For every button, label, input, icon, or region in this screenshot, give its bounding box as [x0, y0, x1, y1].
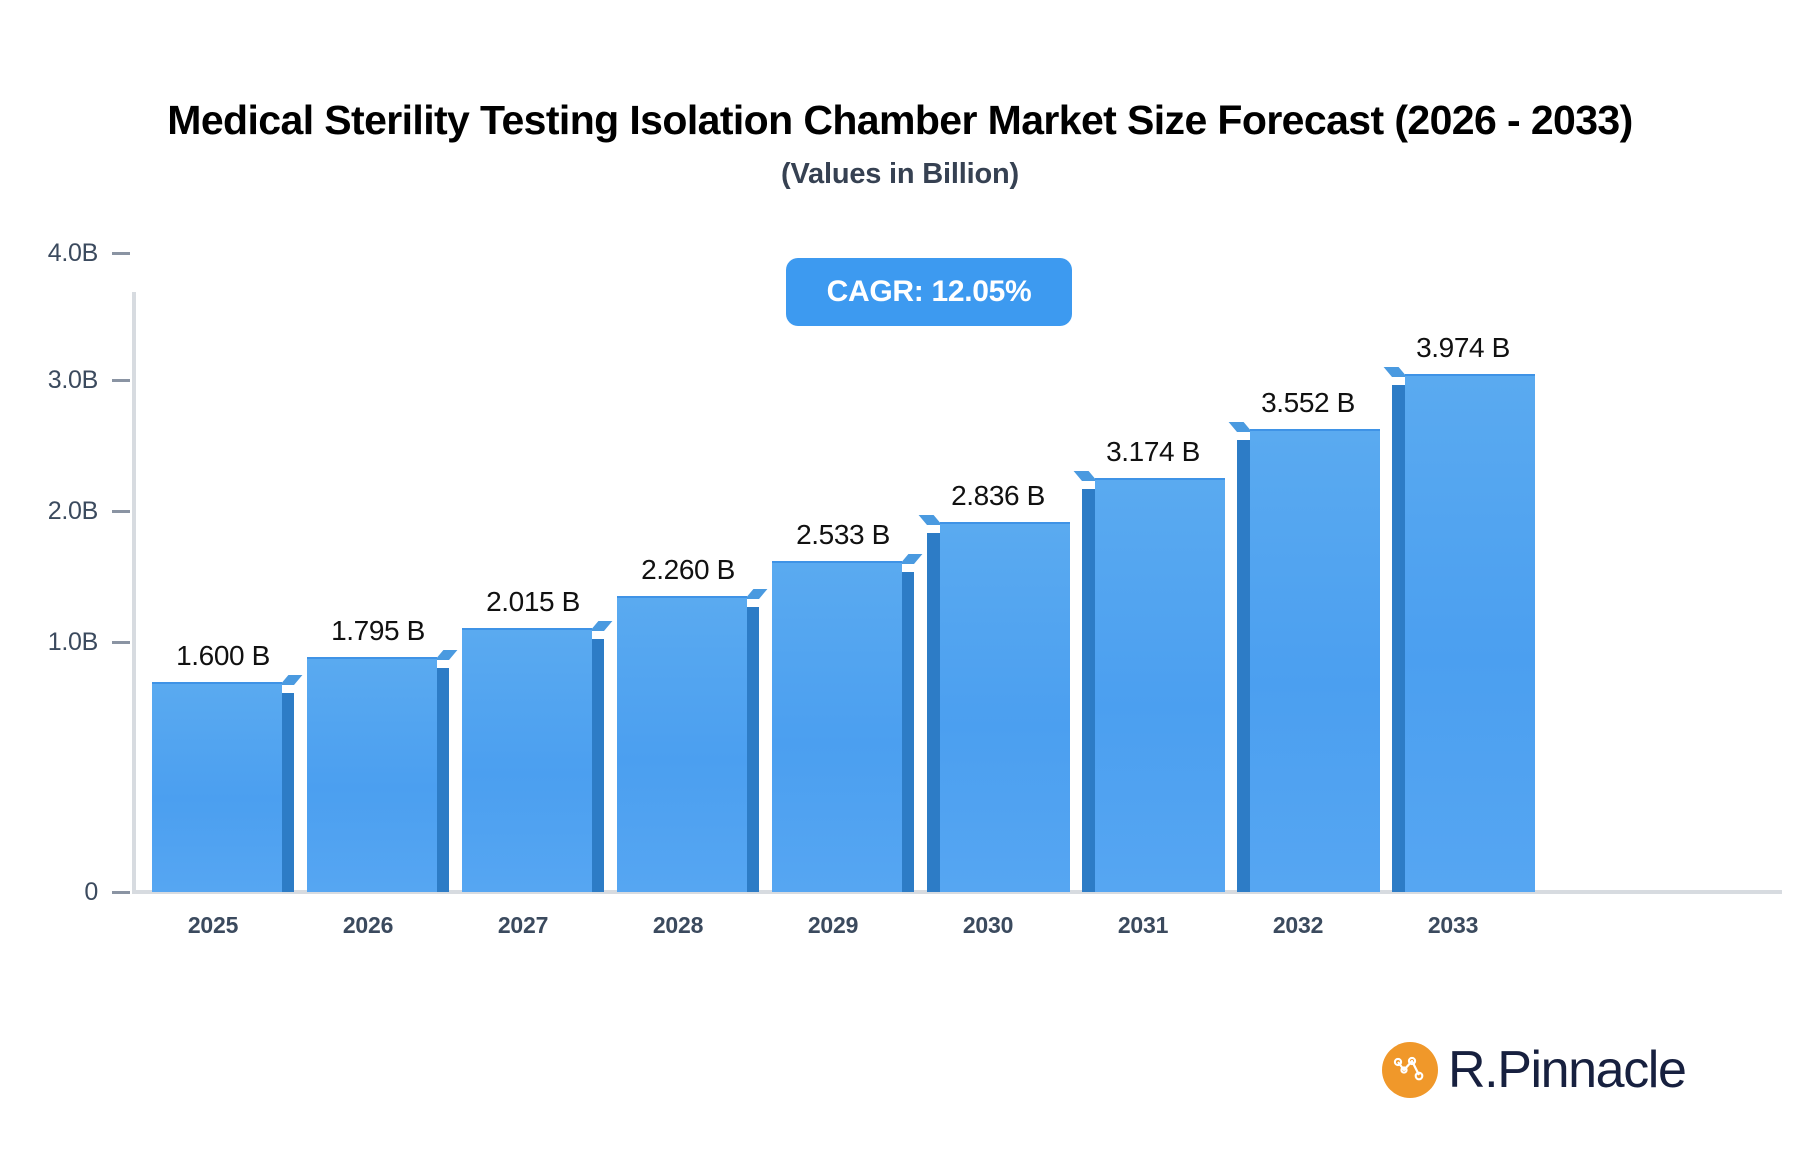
bar-front-face — [617, 596, 747, 892]
bar-top-face — [1229, 422, 1252, 432]
bar-side-face — [900, 572, 914, 892]
brand-name: R.Pinnacle — [1448, 1040, 1685, 1100]
bar-side-face — [927, 533, 941, 892]
x-axis-label-2029: 2029 — [753, 912, 913, 939]
bar-front-face — [462, 628, 592, 892]
bar-2030[interactable]: 2.836 B — [927, 524, 1069, 892]
bar-side-face — [745, 607, 759, 892]
brand-logo: R.Pinnacle — [1382, 1040, 1685, 1100]
y-axis-tick-label: 1.0B — [48, 628, 98, 657]
y-axis-tick-mark — [112, 379, 130, 382]
bar-top-face — [590, 621, 612, 631]
bar-value-label: 2.260 B — [597, 554, 779, 586]
bar-value-label: 2.533 B — [752, 519, 934, 551]
bar-side-face — [1082, 489, 1096, 892]
bar-top-face — [280, 675, 302, 685]
x-axis-label-2031: 2031 — [1063, 912, 1223, 939]
x-axis-label-2033: 2033 — [1373, 912, 1533, 939]
bar-2025[interactable]: 1.600 B — [152, 684, 294, 892]
x-axis-label-2025: 2025 — [133, 912, 293, 939]
bar-front-face — [940, 522, 1070, 892]
y-axis-tick-mark — [112, 252, 130, 255]
y-axis-tick-mark — [112, 641, 130, 644]
y-axis-tick-label: 4.0B — [48, 239, 98, 268]
y-axis-tick-label: 2.0B — [48, 497, 98, 526]
y-axis-line — [132, 292, 136, 892]
bar-2026[interactable]: 1.795 B — [307, 659, 449, 892]
bar-top-face — [435, 650, 457, 660]
bar-value-label: 3.974 B — [1372, 332, 1554, 364]
bar-2028[interactable]: 2.260 B — [617, 598, 759, 892]
y-axis-tick-mark — [112, 891, 130, 894]
bar-2031[interactable]: 3.174 B — [1082, 480, 1224, 892]
bar-top-face — [1384, 367, 1407, 377]
y-axis-tick-mark — [112, 510, 130, 513]
x-axis-label-2032: 2032 — [1218, 912, 1378, 939]
bar-front-face — [307, 657, 437, 892]
bar-2033[interactable]: 3.974 B — [1392, 376, 1534, 892]
bar-top-face — [900, 554, 922, 564]
y-axis-tick-2: 2.0B — [20, 499, 130, 523]
bar-side-face — [435, 668, 449, 892]
bar-value-label: 1.795 B — [287, 615, 469, 647]
y-axis-tick-label: 3.0B — [48, 366, 98, 395]
bar-top-face — [745, 589, 767, 599]
cagr-badge: CAGR: 12.05% — [786, 258, 1072, 326]
bar-front-face — [772, 561, 902, 892]
bar-2029[interactable]: 2.533 B — [772, 563, 914, 892]
bar-value-label: 3.174 B — [1062, 436, 1244, 468]
y-axis-tick-4: 4.0B — [20, 241, 130, 265]
y-axis-tick-1: 1.0B — [20, 630, 130, 654]
bar-value-label: 2.836 B — [907, 480, 1089, 512]
bar-value-label: 3.552 B — [1217, 387, 1399, 419]
bar-side-face — [280, 693, 294, 892]
x-axis-label-2030: 2030 — [908, 912, 1068, 939]
bar-2027[interactable]: 2.015 B — [462, 630, 604, 892]
x-axis-label-2026: 2026 — [288, 912, 448, 939]
bar-front-face — [1095, 478, 1225, 892]
bar-side-face — [1237, 440, 1251, 892]
bar-side-face — [1392, 385, 1406, 892]
y-axis-tick-0: 0 — [20, 880, 130, 904]
bar-front-face — [1250, 429, 1380, 892]
bar-front-face — [152, 682, 282, 892]
network-nodes-icon — [1382, 1042, 1438, 1098]
y-axis-tick-label: 0 — [84, 878, 98, 907]
bar-value-label: 2.015 B — [442, 586, 624, 618]
bar-chart-plot: 4.0B 3.0B 2.0B 1.0B 0 1.600 B 1.795 B — [0, 0, 1800, 1000]
x-axis-label-2028: 2028 — [598, 912, 758, 939]
bar-2032[interactable]: 3.552 B — [1237, 431, 1379, 892]
bar-side-face — [590, 639, 604, 892]
x-axis-label-2027: 2027 — [443, 912, 603, 939]
y-axis-tick-3: 3.0B — [20, 368, 130, 392]
bar-front-face — [1405, 374, 1535, 892]
